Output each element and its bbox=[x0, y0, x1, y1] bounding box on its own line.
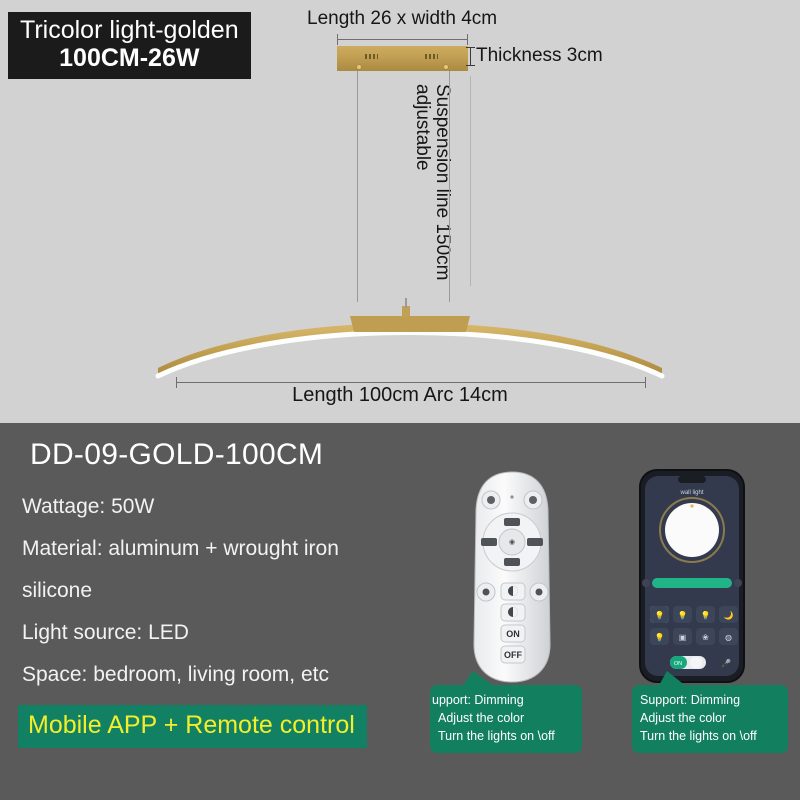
spec-material-continued: silicone bbox=[22, 579, 92, 603]
measure-line bbox=[176, 382, 646, 383]
remote-feature-callout: upport: Dimming Adjust the color Turn th… bbox=[430, 685, 582, 753]
callout-line-2: Adjust the color bbox=[640, 710, 780, 728]
product-spec-image: Tricolor light-golden 100CM-26W Length 2… bbox=[0, 0, 800, 800]
callout-tail bbox=[462, 671, 495, 687]
microphone-icon: 🎤 bbox=[721, 658, 731, 668]
canopy-vent-right bbox=[425, 54, 438, 59]
model-number: DD-09-GOLD-100CM bbox=[30, 438, 323, 472]
suspension-label-line-2: adjustable bbox=[412, 84, 432, 280]
svg-text:◉: ◉ bbox=[509, 539, 515, 546]
product-title-badge: Tricolor light-golden 100CM-26W bbox=[8, 12, 251, 79]
svg-text:❀: ❀ bbox=[702, 633, 709, 642]
remote-on-label: ON bbox=[506, 629, 520, 639]
svg-text:💡: 💡 bbox=[678, 610, 688, 620]
svg-text:💡: 💡 bbox=[655, 632, 665, 642]
thickness-caliper-icon bbox=[466, 47, 475, 66]
measure-line bbox=[337, 39, 468, 40]
app-feature-callout: Support: Dimming Adjust the color Turn t… bbox=[632, 685, 788, 753]
canopy-vent-left bbox=[365, 54, 378, 59]
canopy-measure-bar bbox=[337, 34, 468, 44]
svg-text:💡: 💡 bbox=[701, 610, 711, 620]
callout-line-2: Adjust the color bbox=[438, 710, 574, 728]
spec-wattage: Wattage: 50W bbox=[22, 495, 154, 519]
spec-light-source: Light source: LED bbox=[22, 621, 189, 645]
suspension-wire-left bbox=[357, 71, 358, 302]
measure-tick-right bbox=[467, 34, 468, 45]
callout-line-3: Turn the lights on \off bbox=[438, 728, 574, 746]
svg-text:💡: 💡 bbox=[655, 610, 665, 620]
lamp-dimension-label: Length 100cm Arc 14cm bbox=[0, 384, 800, 407]
suspension-label: Suspension line 150cm adjustable bbox=[412, 84, 452, 280]
remote-control-illustration: ◉ ON OFF bbox=[455, 470, 570, 685]
suspension-guide-line bbox=[470, 76, 471, 286]
phone-app-illustration: wall light 💡 💡 💡 🌙 💡 bbox=[632, 468, 760, 686]
spec-space: Space: bedroom, living room, etc bbox=[22, 663, 329, 687]
callout-line-1: upport: Dimming bbox=[432, 692, 574, 710]
ceiling-canopy-plate bbox=[337, 46, 468, 71]
suspension-wire-right bbox=[449, 71, 450, 302]
badge-line-1: Tricolor light-golden bbox=[20, 16, 239, 44]
measure-tick-left bbox=[337, 34, 338, 45]
thickness-label: Thickness 3cm bbox=[476, 45, 603, 67]
phone-app-title: wall light bbox=[679, 490, 703, 496]
badge-line-2: 100CM-26W bbox=[20, 44, 239, 72]
callout-line-3: Turn the lights on \off bbox=[640, 728, 780, 746]
phone-toggle-label: ON bbox=[674, 661, 682, 667]
canopy-screw-right bbox=[444, 65, 448, 69]
svg-text:🌙: 🌙 bbox=[724, 610, 734, 620]
callout-tail bbox=[658, 671, 687, 687]
canopy-dimension-label: Length 26 x width 4cm bbox=[307, 8, 497, 30]
top-diagram-panel: Tricolor light-golden 100CM-26W Length 2… bbox=[0, 0, 800, 423]
svg-text:▣: ▣ bbox=[679, 633, 687, 642]
callout-line-1: Support: Dimming bbox=[640, 692, 780, 710]
remote-off-label: OFF bbox=[504, 650, 522, 660]
spec-material: Material: aluminum + wrought iron bbox=[22, 537, 339, 561]
svg-text:◍: ◍ bbox=[725, 633, 732, 642]
canopy-screw-left bbox=[357, 65, 361, 69]
app-remote-banner: Mobile APP + Remote control bbox=[18, 705, 367, 748]
